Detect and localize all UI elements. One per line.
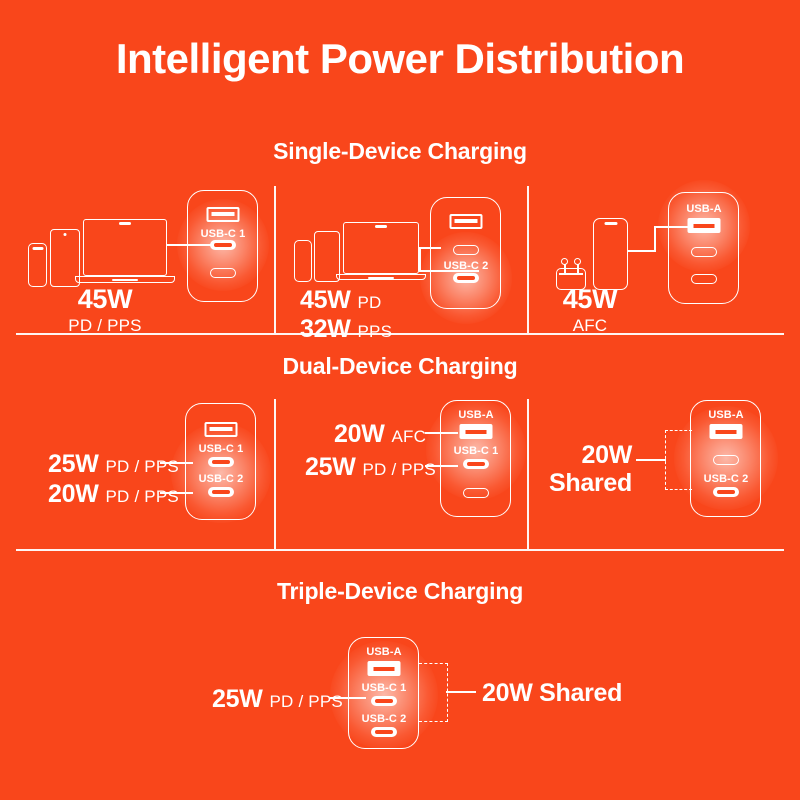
power-row-1: 45W PD	[300, 286, 392, 315]
laptop-base-icon	[336, 274, 426, 280]
power-spec: PD	[358, 293, 382, 313]
port-label-usbc1: USB-C 1	[199, 443, 244, 455]
port-usb-c-2	[463, 488, 489, 498]
port-label-usbc2: USB-C 2	[199, 473, 244, 485]
port-usb-c-1	[210, 240, 236, 250]
power-spec: PD / PPS	[363, 460, 436, 480]
power-value: 45W	[300, 286, 351, 315]
laptop-screen-icon	[83, 219, 167, 276]
port-usb-c-1	[691, 247, 717, 257]
port-label-usbc1: USB-C 1	[454, 445, 499, 457]
wire-seg-v	[654, 226, 656, 251]
charger-single-usbc1: USB-C 1	[187, 190, 258, 302]
power-spec: AFC	[392, 427, 427, 447]
port-usb-c-1	[371, 696, 397, 706]
wire-seg-h1	[628, 250, 656, 252]
shared-value: 20W Shared	[482, 679, 622, 708]
charger-single-usba: USB-A	[668, 192, 739, 304]
power-label-dual-c1: 25W PD / PPS	[305, 453, 436, 482]
power-label-triple-shared: 20W Shared	[482, 679, 622, 708]
divider-horizontal-2	[16, 549, 784, 551]
charger-dual-shared: USB-A USB-C 2	[690, 400, 761, 517]
infographic-page: Intelligent Power Distribution Single-De…	[0, 0, 800, 800]
port-label-usba: USB-A	[458, 409, 493, 421]
phone-icon	[28, 243, 47, 287]
power-label-single-usbc1: 45W PD / PPS	[40, 284, 170, 336]
power-value: 32W	[300, 315, 351, 344]
port-usb-c-1	[453, 245, 479, 255]
power-label-single-usbc2: 45W PD 32W PPS	[300, 286, 392, 344]
charger-dual-c1-c2: USB-C 1 USB-C 2	[185, 403, 256, 520]
power-label-dual-c1: 25W PD / PPS	[48, 450, 179, 479]
port-usb-c-1	[713, 455, 739, 465]
power-spec: PD / PPS	[106, 487, 179, 507]
power-spec: PPS	[358, 322, 393, 342]
port-usb-a	[450, 214, 483, 229]
shared-value: 20W	[540, 441, 632, 469]
power-value: 45W	[530, 284, 650, 315]
shared-word: Shared	[540, 469, 632, 497]
port-usb-a	[205, 422, 238, 437]
power-value: 20W	[334, 420, 385, 449]
power-row-2: 32W PPS	[300, 315, 392, 344]
port-label-usbc2: USB-C 2	[444, 260, 489, 272]
section-heading-dual: Dual-Device Charging	[0, 353, 800, 380]
port-label-usba: USB-A	[686, 203, 721, 215]
shared-bracket-dashed	[665, 430, 692, 490]
page-title: Intelligent Power Distribution	[0, 36, 800, 82]
wire-to-usba	[425, 432, 458, 434]
power-spec: PD / PPS	[106, 457, 179, 477]
shared-bracket-dashed	[419, 663, 448, 722]
laptop-screen-icon	[343, 222, 419, 274]
divider-vertical-4	[527, 399, 529, 549]
power-value: 20W	[48, 480, 99, 509]
wire-shared	[636, 459, 666, 461]
power-label-triple-left: 25W PD / PPS	[212, 685, 343, 714]
port-usb-a	[460, 424, 493, 439]
port-label-usbc1: USB-C 1	[201, 228, 246, 240]
section-heading-single: Single-Device Charging	[0, 138, 800, 165]
wire-seg-v	[419, 247, 421, 271]
port-usb-c-2	[691, 274, 717, 284]
port-label-usba: USB-A	[708, 409, 743, 421]
port-usb-a	[368, 661, 401, 676]
port-label-usbc2: USB-C 2	[362, 713, 407, 725]
power-label-dual-shared: 20W Shared	[540, 441, 632, 497]
port-usb-a	[207, 207, 240, 222]
divider-vertical-1	[274, 186, 276, 333]
power-spec: PD / PPS	[270, 692, 343, 712]
port-usb-c-2	[208, 487, 234, 497]
power-label-dual-c2: 20W PD / PPS	[48, 480, 179, 509]
power-label-single-usba: 45W AFC	[530, 284, 650, 336]
port-usb-c-1	[463, 459, 489, 469]
port-usb-c-1	[208, 457, 234, 467]
wire-shared	[446, 691, 476, 693]
divider-vertical-3	[274, 399, 276, 549]
port-usb-a	[688, 218, 721, 233]
charger-single-usbc2: USB-C 2	[430, 197, 501, 309]
phone-icon	[593, 218, 628, 290]
divider-horizontal-1	[16, 333, 784, 335]
power-value: 25W	[212, 685, 263, 714]
port-label-usbc2: USB-C 2	[704, 473, 749, 485]
charger-dual-a-c1: USB-A USB-C 1	[440, 400, 511, 517]
port-usb-c-2	[210, 268, 236, 278]
port-usb-a	[710, 424, 743, 439]
power-value: 25W	[48, 450, 99, 479]
phone-icon	[294, 240, 312, 282]
port-usb-c-2	[713, 487, 739, 497]
power-value: 45W	[40, 284, 170, 315]
port-usb-c-2	[371, 727, 397, 737]
power-value: 25W	[305, 453, 356, 482]
section-heading-triple: Triple-Device Charging	[0, 578, 800, 605]
power-label-dual-a: 20W AFC	[334, 420, 426, 449]
divider-vertical-2	[527, 186, 529, 333]
port-label-usbc1: USB-C 1	[362, 682, 407, 694]
port-label-usba: USB-A	[366, 646, 401, 658]
port-usb-c-2	[453, 273, 479, 283]
charger-triple: USB-A USB-C 1 USB-C 2	[348, 637, 419, 749]
laptop-base-icon	[75, 276, 175, 283]
